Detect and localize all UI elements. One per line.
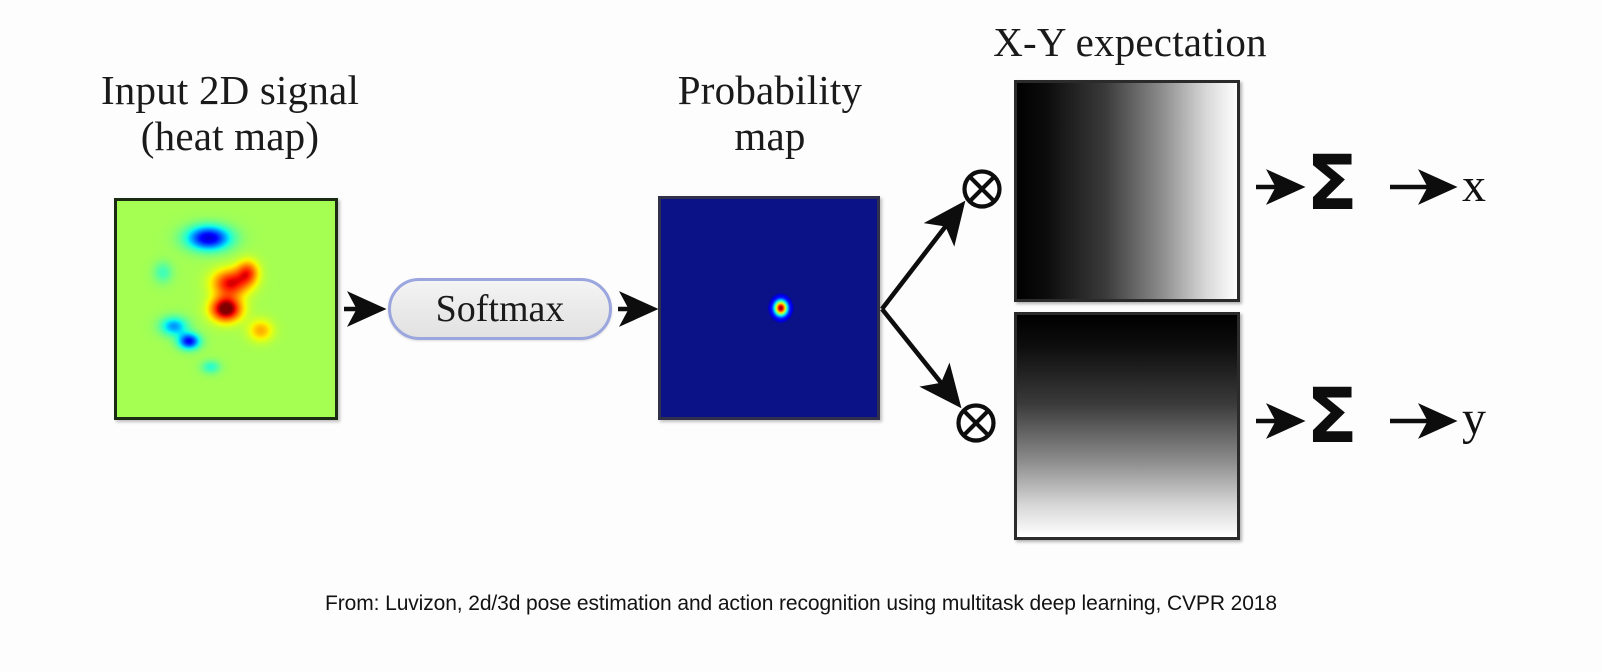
summation-symbol-x: Σ (1306, 145, 1358, 221)
input-heatmap-image (117, 201, 335, 417)
softmax-label: Softmax (436, 287, 565, 331)
input-heatmap-panel (114, 198, 338, 420)
probability-map-image (661, 199, 877, 417)
figure-canvas: Input 2D signal (heat map) Probability m… (0, 0, 1602, 672)
otimes-icon (955, 402, 997, 444)
probability-map-title: Probability map (640, 68, 900, 160)
output-y-label: y (1462, 395, 1486, 443)
summation-symbol-y: Σ (1306, 378, 1358, 454)
xy-expectation-title: X-Y expectation (930, 20, 1330, 66)
output-x-label: x (1462, 162, 1486, 210)
input-signal-title: Input 2D signal (heat map) (40, 68, 420, 160)
y-expectation-map (1014, 312, 1240, 540)
probability-map-panel (658, 196, 880, 420)
arrow-probmap-to-multiply-y (882, 309, 958, 404)
otimes-icon (961, 168, 1003, 210)
x-expectation-map (1014, 80, 1240, 302)
arrow-probmap-to-multiply-x (882, 205, 962, 309)
softmax-node[interactable]: Softmax (388, 278, 612, 340)
figure-caption: From: Luvizon, 2d/3d pose estimation and… (0, 592, 1602, 616)
